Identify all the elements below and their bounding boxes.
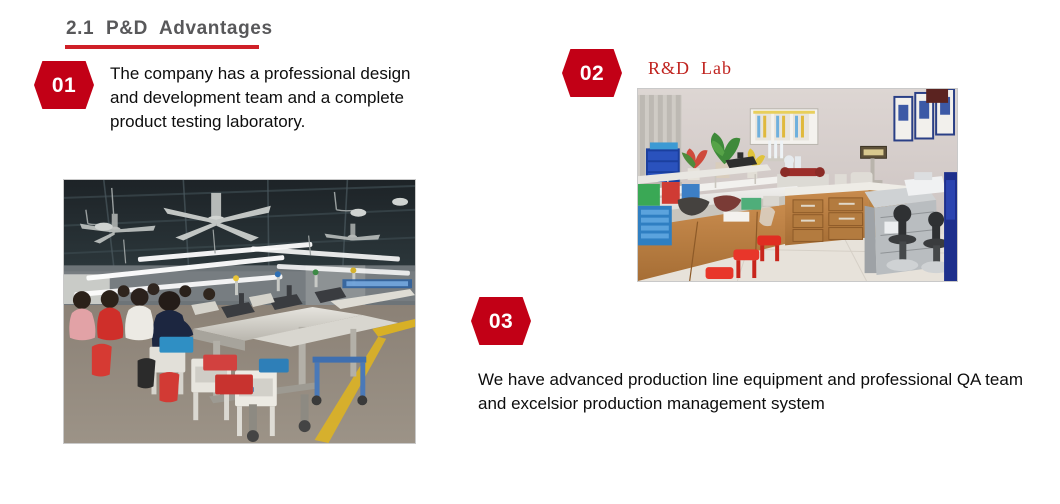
- item-01-text: The company has a professional design an…: [110, 62, 430, 134]
- factory-photo-graphic: 10: [64, 180, 415, 443]
- badge-03: 03: [471, 297, 531, 345]
- item-03-text: We have advanced production line equipme…: [478, 368, 1023, 416]
- badge-01: 01: [34, 61, 94, 109]
- badge-02: 02: [562, 49, 622, 97]
- rd-lab-photo: [637, 88, 958, 282]
- badge-01-label: 01: [52, 75, 76, 96]
- title-underline-rule: [65, 45, 259, 49]
- badge-02-label: 02: [580, 63, 604, 84]
- rd-lab-label: R&D Lab: [648, 58, 732, 79]
- badge-03-label: 03: [489, 311, 513, 332]
- factory-sewing-floor-photo: 10: [63, 179, 416, 444]
- lab-photo-graphic: [638, 89, 957, 281]
- slide-root: 2.1 P&D Advantages 01 The company has a …: [0, 0, 1060, 504]
- page-title: 2.1 P&D Advantages: [66, 18, 273, 40]
